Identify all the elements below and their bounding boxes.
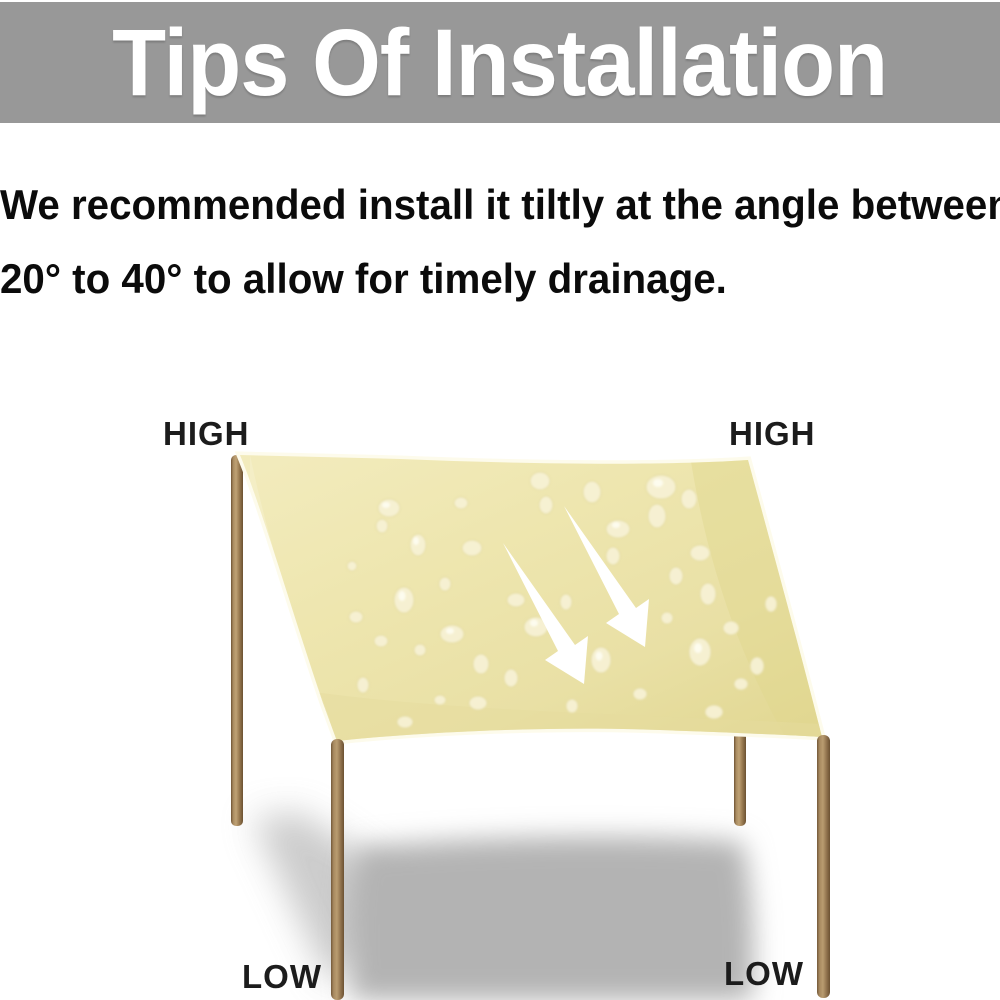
shade-sail-illustration: HIGH HIGH LOW LOW: [0, 0, 1000, 1000]
label-low-left: LOW: [242, 958, 322, 996]
ground-shadow-group: [252, 812, 754, 1000]
pole-low-left: [331, 739, 344, 1000]
pole-high-left: [231, 455, 243, 826]
label-high-left: HIGH: [163, 415, 250, 453]
ground-shadow-main: [349, 837, 754, 1000]
page-root: Tips Of Installation We recommended inst…: [0, 0, 1000, 1000]
label-low-right: LOW: [724, 955, 804, 993]
pole-low-right: [817, 735, 830, 998]
shade-sail-svg: [0, 0, 1000, 1000]
label-high-right: HIGH: [729, 415, 816, 453]
shade-sail-canopy: [240, 440, 860, 760]
